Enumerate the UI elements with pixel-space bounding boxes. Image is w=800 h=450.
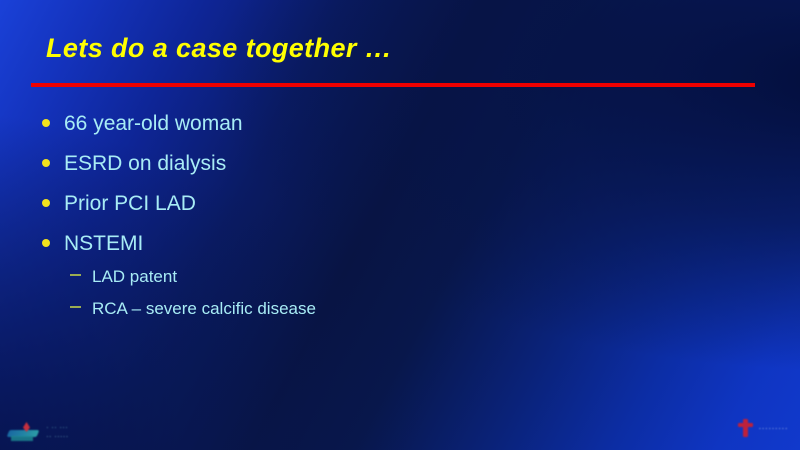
logo-mark-icon — [8, 422, 42, 442]
bullet-label: 66 year-old woman — [64, 110, 243, 138]
sub-bullet-list: LAD patent RCA – severe calcific disease — [70, 264, 710, 328]
sub-bullet-label: LAD patent — [92, 264, 177, 289]
title-block: Lets do a case together … — [46, 33, 758, 63]
bullet-dot-icon — [42, 110, 64, 127]
bullet-list: 66 year-old woman ESRD on dialysis Prior… — [42, 110, 742, 270]
dash-icon — [70, 296, 92, 308]
sub-list-item: RCA – severe calcific disease — [70, 296, 710, 328]
logo-right-text: ········· — [758, 423, 788, 433]
logo-left-text: · ·· ··· ·· ····· — [46, 423, 68, 441]
sub-bullet-label: RCA – severe calcific disease — [92, 296, 316, 321]
bullet-dot-icon — [42, 150, 64, 167]
bullet-dot-icon — [42, 190, 64, 207]
logo-figure-icon — [738, 418, 754, 438]
bullet-label: NSTEMI — [64, 230, 143, 258]
title-underline-rule — [31, 83, 755, 87]
bullet-dot-icon — [42, 230, 64, 247]
sub-list-item: LAD patent — [70, 264, 710, 296]
logo-left-line1: · ·· ··· — [46, 423, 68, 432]
institution-logo-right: ········· — [738, 418, 788, 438]
bullet-label: ESRD on dialysis — [64, 150, 226, 178]
list-item: ESRD on dialysis — [42, 150, 742, 190]
dash-icon — [70, 264, 92, 276]
bullet-label: Prior PCI LAD — [64, 190, 196, 218]
list-item: Prior PCI LAD — [42, 190, 742, 230]
logo-left-line2: ·· ····· — [46, 432, 68, 441]
presentation-slide: Lets do a case together … 66 year-old wo… — [0, 0, 800, 450]
institution-logo-left: · ·· ··· ·· ····· — [8, 422, 68, 442]
list-item: 66 year-old woman — [42, 110, 742, 150]
page-title: Lets do a case together … — [46, 33, 758, 63]
